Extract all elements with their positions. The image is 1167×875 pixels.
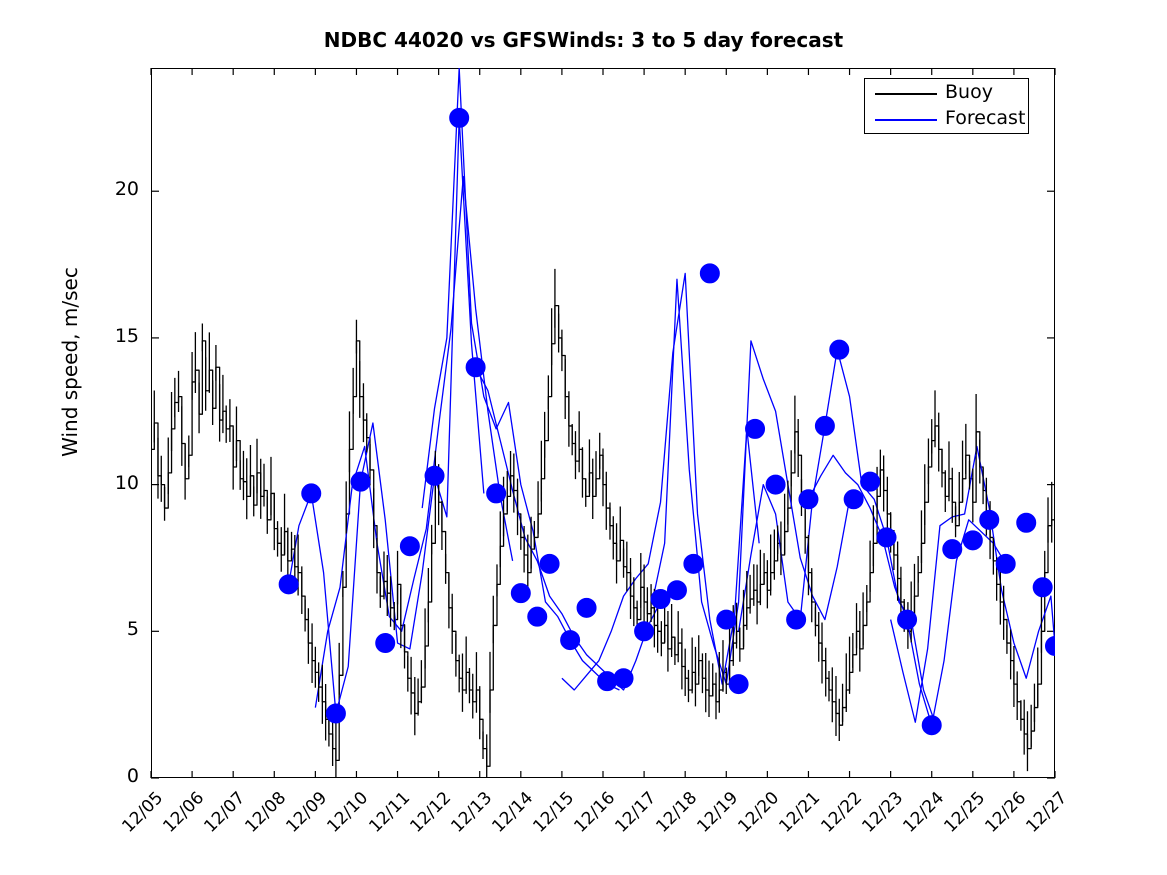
legend-label-buoy: Buoy bbox=[945, 81, 993, 103]
y-tick-label: 10 bbox=[93, 472, 139, 494]
y-tick-label: 0 bbox=[93, 765, 139, 787]
y-tick-label: 15 bbox=[93, 325, 139, 347]
legend-swatch-forecast bbox=[875, 119, 937, 121]
y-tick-label: 20 bbox=[93, 178, 139, 200]
legend-swatch-buoy bbox=[875, 93, 937, 95]
plot-area bbox=[151, 68, 1055, 778]
legend-item-forecast: Forecast bbox=[865, 106, 1030, 134]
chart-title: NDBC 44020 vs GFSWinds: 3 to 5 day forec… bbox=[0, 28, 1167, 52]
y-axis-label: Wind speed, m/sec bbox=[58, 232, 82, 492]
legend-item-buoy: Buoy bbox=[865, 80, 1030, 108]
chart-figure: NDBC 44020 vs GFSWinds: 3 to 5 day forec… bbox=[0, 0, 1167, 875]
y-tick-label: 5 bbox=[93, 618, 139, 640]
legend-label-forecast: Forecast bbox=[945, 107, 1025, 129]
chart-legend: Buoy Forecast bbox=[864, 78, 1029, 134]
